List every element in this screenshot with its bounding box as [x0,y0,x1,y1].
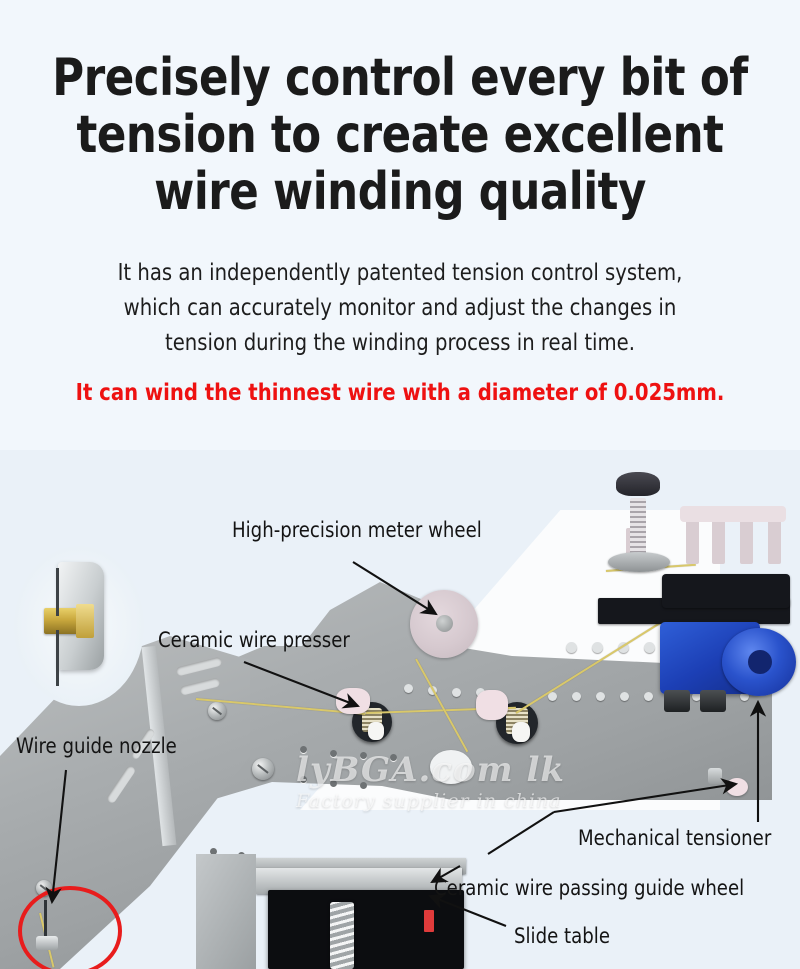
callout-label-guide-nozzle: Wire guide nozzle [16,734,177,758]
leader-guide-wheel-v [488,812,554,854]
leader-wire-presser [244,662,358,706]
callout-label-slide-table: Slide table [514,924,610,948]
product-feature-page: Precisely control every bit of tension t… [0,0,800,969]
leader-meter-wheel [353,562,436,614]
callout-label-wire-presser: Ceramic wire presser [158,628,350,652]
callout-label-meter-wheel: High-precision meter wheel [232,518,482,542]
headline-line-2: tension to create excellent [28,107,772,164]
headline-line-3: wire winding quality [28,164,772,221]
body-copy: It has an independently patented tension… [77,256,723,361]
leader-guide-nozzle [52,770,66,902]
body-line-3: tension during the winding process in re… [77,326,723,361]
headline-line-1: Precisely control every bit of [28,50,772,107]
callout-label-guide-wheel: Ceramic wire passing guide wheel [434,876,744,900]
leader-slide-table [430,896,506,926]
body-line-2: which can accurately monitor and adjust … [77,291,723,326]
leader-guide-wheel-h [554,784,736,812]
callout-label-tensioner: Mechanical tensioner [578,826,771,850]
highlight-statement: It can wind the thinnest wire with a dia… [58,378,742,408]
page-headline: Precisely control every bit of tension t… [28,50,772,221]
body-line-1: It has an independently patented tension… [77,256,723,291]
product-photo: lyBGA.com lk Factory supplier in china [0,450,800,969]
